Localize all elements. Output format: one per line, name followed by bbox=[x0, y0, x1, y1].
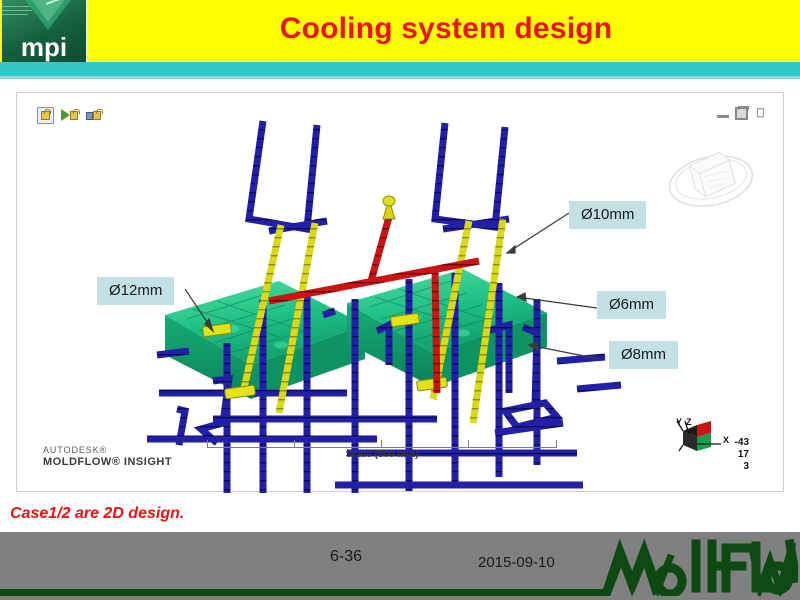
svg-text:Z: Z bbox=[686, 417, 692, 427]
callout-d12: Ø12mm bbox=[97, 277, 174, 305]
callout-d6: Ø6mm bbox=[597, 291, 666, 319]
axis-triad-values: -43 17 3 bbox=[735, 437, 749, 473]
slide-note: Case1/2 are 2D design. bbox=[10, 505, 184, 523]
page-title: Cooling system design bbox=[92, 0, 800, 58]
svg-text:Y: Y bbox=[676, 417, 682, 427]
autodesk-wordmark: AUTODESK® MOLDFLOW® INSIGHT bbox=[43, 445, 172, 469]
triad-value-x: -43 bbox=[735, 437, 749, 449]
header-accent-bar bbox=[0, 62, 800, 76]
moldflow-logo bbox=[600, 538, 798, 596]
callout-d8: Ø8mm bbox=[609, 341, 678, 369]
svg-text:X: X bbox=[723, 435, 729, 445]
page-number: 6-36 bbox=[330, 548, 362, 566]
scale-bar-label: Scale (500 mm) bbox=[207, 449, 557, 460]
autodesk-line1: AUTODESK® bbox=[43, 445, 172, 456]
scale-bar: Scale (500 mm) bbox=[207, 437, 557, 463]
sprue-cone bbox=[383, 196, 395, 219]
slide-header: mpi Cooling system design bbox=[0, 0, 800, 62]
moldflow-viewport[interactable]: ⎕ bbox=[16, 92, 784, 492]
autodesk-line2: MOLDFLOW® INSIGHT bbox=[43, 456, 172, 469]
triad-value-y: 17 bbox=[735, 449, 749, 461]
footer-green-line bbox=[0, 589, 608, 596]
callout-d10: Ø10mm bbox=[569, 201, 646, 229]
triad-value-z: 3 bbox=[735, 461, 749, 473]
footer-date: 2015-09-10 bbox=[478, 554, 555, 571]
header-accent-shadow bbox=[0, 76, 800, 79]
logo-wordmark: mpi bbox=[2, 33, 86, 61]
mpi-logo: mpi bbox=[2, 0, 88, 62]
axis-triad: Y Z X -43 17 3 bbox=[669, 417, 749, 479]
